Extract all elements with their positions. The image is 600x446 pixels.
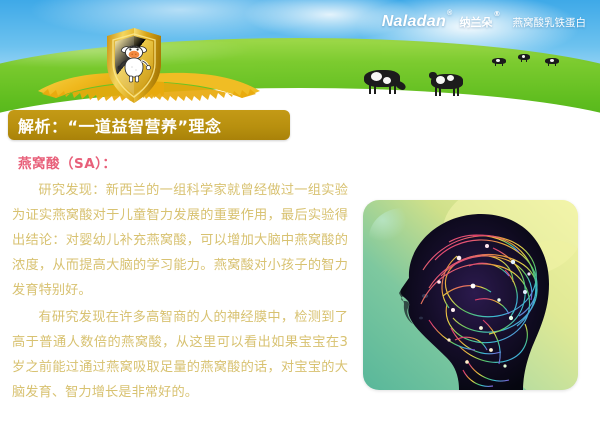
brand-chinese-name: 纳兰朵® — [460, 14, 501, 30]
section-title-bar: 解析：“一道益智营养”理念 — [8, 110, 290, 140]
brain-neural-network-image — [363, 200, 578, 390]
grazing-cow-icon — [545, 58, 562, 67]
brand-lockup: Naladan® 纳兰朵® 燕窝酸乳铁蛋白 — [382, 13, 586, 31]
brand-latin-name: Naladan® — [382, 13, 453, 31]
paragraph: 研究发现：新西兰的一组科学家就曾经做过一组实验为证实燕窝酸对于儿童智力发展的重要… — [12, 178, 348, 303]
body-text-column: 研究发现：新西兰的一组科学家就曾经做过一组实验为证实燕窝酸对于儿童智力发展的重要… — [12, 178, 348, 407]
golden-shield-logo — [104, 27, 164, 105]
grazing-cow-icon — [362, 70, 406, 94]
brand-latin-trademark: ® — [447, 10, 452, 17]
grazing-cow-icon — [518, 54, 532, 63]
paragraph: 有研究发现在许多高智商的人的神经膜中，检测到了高于普通人数倍的燕窝酸，从这里可以… — [12, 305, 348, 405]
page-title: 解析：“一道益智营养”理念 — [8, 113, 222, 137]
content-area: 燕窝酸（SA）： 研究发现：新西兰的一组科学家就曾经做过一组实验为证实燕窝酸对于… — [0, 148, 600, 446]
promo-page: Naladan® 纳兰朵® 燕窝酸乳铁蛋白 解析：“一道益智营养”理念 燕窝酸（… — [0, 0, 600, 446]
grazing-cow-icon — [428, 72, 468, 96]
brand-chinese-trademark: ® — [494, 10, 501, 18]
subheading: 燕窝酸（SA）： — [18, 152, 116, 172]
grazing-cow-icon — [492, 58, 508, 67]
header-banner: Naladan® 纳兰朵® 燕窝酸乳铁蛋白 — [0, 0, 600, 122]
brand-product-descriptor: 燕窝酸乳铁蛋白 — [513, 15, 587, 30]
